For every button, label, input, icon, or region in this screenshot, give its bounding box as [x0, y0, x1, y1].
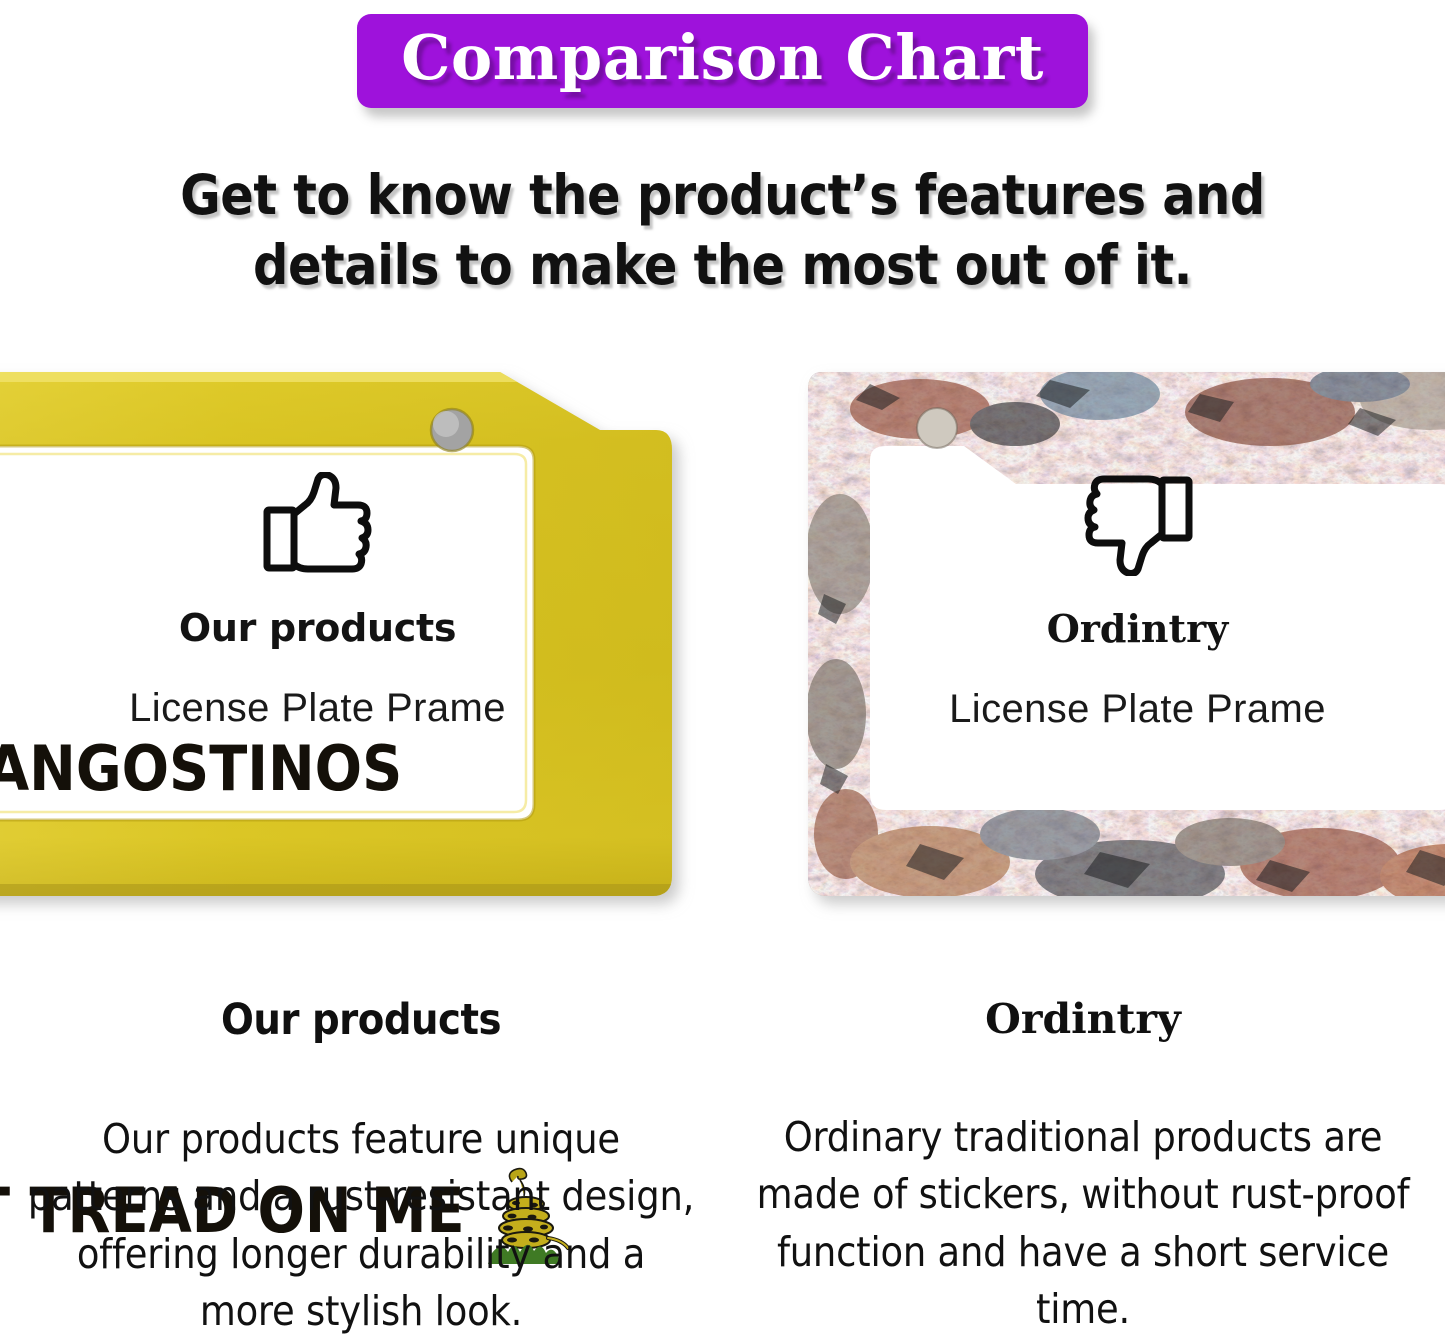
- page-title: Comparison Chart: [401, 20, 1044, 96]
- page-subtitle: Get to know the product’s features and d…: [113, 160, 1333, 301]
- our-product-license-plate-frame: [0, 364, 680, 914]
- ordinary-product-description-body: Ordinary traditional products are made o…: [748, 1109, 1418, 1339]
- our-product-description-heading: Our products: [26, 995, 696, 1045]
- header-banner-wrapper: Comparison Chart: [0, 14, 1445, 108]
- description-columns: Our products Our products feature unique…: [0, 995, 1445, 1341]
- ordinary-product-description-column: Ordintry Ordinary traditional products a…: [722, 995, 1444, 1341]
- ordinary-product-description-heading: Ordintry: [748, 995, 1418, 1043]
- ordinary-product-license-plate-frame: [800, 364, 1445, 914]
- comparison-chart-banner: Comparison Chart: [357, 14, 1088, 108]
- product-comparison-panels: ANGOSTINOS T TREAD ON ME: [0, 352, 1445, 932]
- our-product-description-column: Our products Our products feature unique…: [0, 995, 722, 1341]
- our-product-description-body: Our products feature unique patterns and…: [26, 1111, 696, 1341]
